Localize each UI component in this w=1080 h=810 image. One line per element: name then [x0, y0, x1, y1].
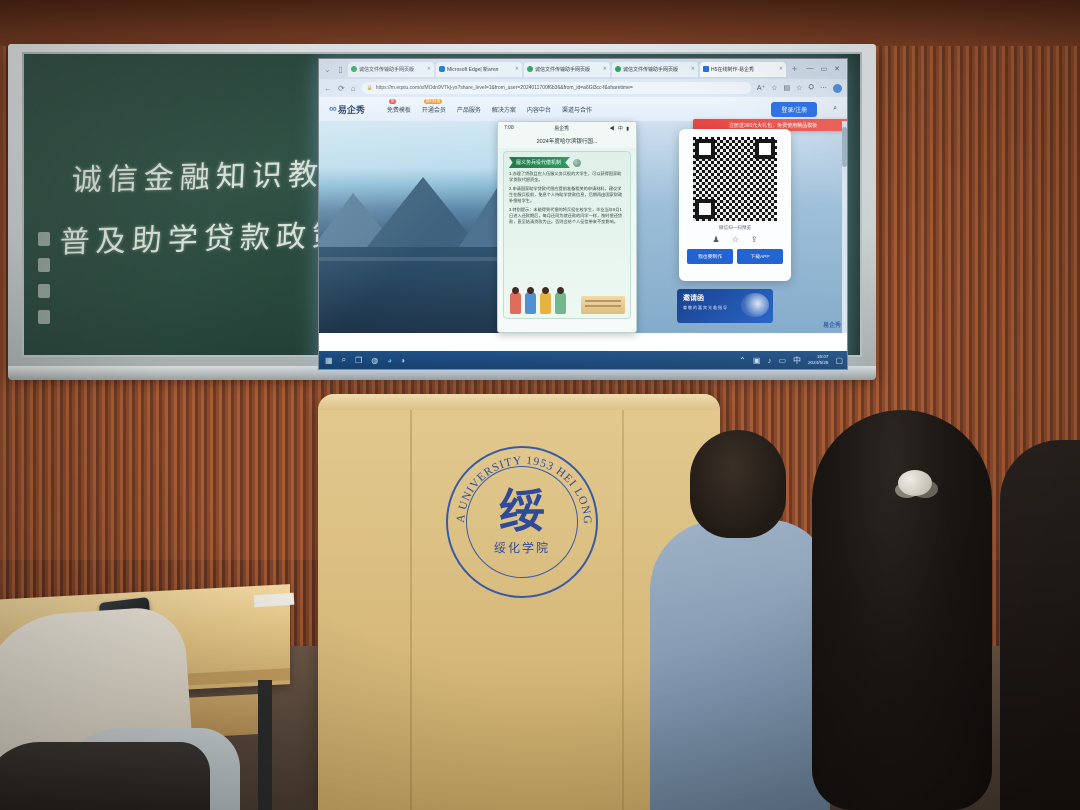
student-right-long-hair — [812, 410, 992, 810]
download-app-button[interactable]: 下载APP — [737, 249, 783, 264]
qr-code-image — [693, 137, 777, 221]
share-icon[interactable]: ⇪ — [751, 235, 758, 244]
login-register-button[interactable]: 登录/注册 — [771, 102, 817, 117]
tab-close-icon[interactable]: ✕ — [515, 66, 519, 72]
task-view-icon[interactable]: ❐ — [355, 356, 362, 365]
browser-tab-active[interactable]: H5在线制作-易企秀 ✕ — [700, 62, 786, 77]
tab-close-icon[interactable]: ✕ — [691, 66, 695, 72]
maximize-button[interactable]: ▭ — [821, 65, 828, 73]
person-figure-icon — [525, 292, 536, 314]
browser-toolbar-icons: A⁺ ☆ ▤ ☆ ⛭ ⋯ — [757, 84, 842, 93]
favorites-icon[interactable]: ☆ — [796, 84, 802, 92]
tab-favicon-blue-square-icon — [703, 66, 709, 72]
podium-seam — [410, 410, 412, 810]
nav-item-label: 内容中台 — [527, 108, 551, 114]
eqxiu-logo[interactable]: ∞ 易企秀 — [329, 103, 365, 116]
refresh-icon[interactable]: ⟳ — [338, 84, 345, 93]
browser-tab[interactable]: 诚信文件传输助手网页版 ✕ — [612, 62, 698, 77]
edge-icon[interactable]: ◕ — [387, 356, 392, 365]
preview-paragraph: 1.办理了贷款且应入伍服义务兵役的大学生，可以获得国家助学贷款代偿资金。 — [509, 171, 625, 183]
board-magnet — [38, 310, 50, 324]
qr-finder-icon — [695, 139, 715, 159]
back-icon[interactable]: ← — [324, 84, 332, 93]
mobile-preview-frame: 7:08 易企秀 ◀ 中 ▮ 2024年度哈尔滨银行国... 履义务兵役代偿机制… — [497, 121, 637, 333]
blackboard-line-2: 普及助学贷款政策 — [59, 210, 349, 261]
person-figure-icon — [555, 292, 566, 314]
person-figure-icon — [540, 292, 551, 314]
qr-buttons: 我也要制作 下载APP — [687, 249, 783, 264]
settings-icon[interactable]: ⋯ — [820, 84, 827, 92]
person-figure-icon — [510, 292, 521, 314]
wall-top-shadow — [0, 0, 1080, 46]
browser-tab[interactable]: 诚信文件传输助手网页版 ✕ — [348, 62, 434, 77]
classroom-scene: 诚信金融知识教育 普及助学贷款政策 教学用板 ⌄ ▯ 诚信文件传输助手网页版 ✕… — [0, 0, 1080, 810]
nav-item-partners[interactable]: 渠道与合作 — [562, 105, 592, 114]
clock-date: 2024/5/25 — [808, 360, 828, 366]
battery-icon[interactable]: ▭ — [778, 356, 786, 365]
app-icon[interactable]: ◗ — [401, 356, 406, 365]
collections-icon[interactable]: ▤ — [783, 84, 790, 92]
nav-item-label: 产品服务 — [457, 108, 481, 114]
browser-tab-strip: ⌄ ▯ 诚信文件传输助手网页版 ✕ Microsoft Edge| 新ател … — [319, 59, 847, 79]
logo-name: 易企秀 — [338, 103, 365, 116]
tab-favicon-green-circle-icon — [351, 66, 357, 72]
browser-tab[interactable]: 诚信文件传输助手网页版 ✕ — [524, 62, 610, 77]
site-header: ∞ 易企秀 新 免费模板 限时特惠 开通会员 产品服务 解决方案 — [319, 97, 847, 121]
preview-doc-title: 2024年度哈尔滨银行国... — [498, 134, 636, 148]
nav-badge: 新 — [389, 99, 397, 104]
emblem-glyph: 绥 — [499, 489, 545, 533]
taskbar-clock[interactable]: 15:07 2024/5/25 — [808, 354, 828, 366]
nav-item-content-platform[interactable]: 内容中台 — [527, 105, 551, 114]
desk-leg — [258, 680, 272, 810]
status-app-name: 易企秀 — [514, 125, 610, 132]
nav-item-label: 解决方案 — [492, 108, 516, 114]
qr-caption: 微信扫一扫预览 — [687, 225, 783, 231]
lock-icon: 🔒 — [367, 85, 373, 91]
preview-ribbon: 履义务兵役代偿机制 — [509, 157, 625, 168]
qr-finder-icon — [695, 199, 715, 219]
browser-tab[interactable]: Microsoft Edge| 新ател ✕ — [436, 62, 522, 77]
student-foreground-left — [0, 742, 210, 810]
eqxiu-watermark: 易企秀 — [823, 320, 841, 329]
logo-mark-icon: ∞ — [329, 103, 335, 115]
close-button[interactable]: ✕ — [834, 65, 840, 73]
show-hidden-icon[interactable]: ⌃ — [739, 356, 746, 365]
invitation-artwork — [741, 293, 769, 317]
emblem-chinese-name: 绥化学院 — [494, 539, 550, 556]
tab-actions-icon[interactable]: ⌄ — [322, 64, 333, 75]
tab-label: H5在线制作-易企秀 — [711, 66, 777, 73]
scrollbar-thumb[interactable] — [842, 127, 847, 167]
tab-close-icon[interactable]: ✕ — [603, 66, 607, 72]
preview-illustration-books — [581, 296, 625, 314]
projector-screen: ⌄ ▯ 诚信文件传输助手网页版 ✕ Microsoft Edge| 新ател … — [318, 58, 848, 370]
page-scrollbar[interactable] — [842, 121, 847, 333]
emblem-inner-ring: 绥 绥化学院 — [466, 466, 578, 578]
ribbon-label: 履义务兵役代偿机制 — [509, 157, 570, 168]
tab-close-icon[interactable]: ✕ — [427, 66, 431, 72]
board-magnet — [38, 232, 50, 246]
qr-finder-icon — [755, 139, 775, 159]
tab-label: 诚信文件传输助手网页版 — [623, 66, 689, 73]
create-button[interactable]: 我也要制作 — [687, 249, 733, 264]
favorite-icon[interactable]: ☆ — [771, 84, 777, 92]
status-indicators: ◀ 中 ▮ — [609, 125, 630, 132]
tab-favicon-edge-icon — [439, 66, 445, 72]
extensions-icon[interactable]: ⛭ — [808, 84, 814, 92]
nav-item-label: 开通会员 — [422, 108, 446, 114]
preview-content-card: 履义务兵役代偿机制 1.办理了贷款且应入伍服义务兵役的大学生，可以获得国家助学贷… — [503, 151, 631, 319]
nav-item-label: 渠道与合作 — [562, 108, 592, 114]
university-emblem: SUI HUA UNIVERSITY 1953 HEI LONG JIANG 绥… — [446, 446, 598, 598]
nav-item-membership[interactable]: 限时特惠 开通会员 — [422, 105, 446, 114]
browser-address-bar: ← ⟳ ⌂ 🔒 https://m.eqxiu.com/s/MOdn9VTkj-… — [319, 79, 847, 97]
window-controls: — ▭ ✕ — [807, 65, 845, 73]
new-tab-button[interactable]: + — [788, 64, 801, 74]
volume-icon[interactable]: ♪ — [767, 356, 771, 365]
vertical-tabs-icon[interactable]: ▯ — [335, 64, 346, 75]
qr-action-icons: ♟ ☆ ⇪ — [687, 235, 783, 244]
tab-close-icon[interactable]: ✕ — [779, 66, 783, 72]
student-far-right-hair — [1000, 440, 1080, 810]
teams-icon[interactable]: ◍ — [371, 356, 378, 365]
read-aloud-icon[interactable]: A⁺ — [757, 84, 765, 92]
podium-top-surface — [318, 394, 720, 410]
search-icon[interactable]: ⌕ — [342, 355, 346, 365]
notification-icon[interactable]: ▢ — [835, 356, 843, 365]
start-icon[interactable]: ▦ — [325, 356, 333, 365]
tab-favicon-green-circle-icon — [527, 66, 533, 72]
invitation-card[interactable]: 邀请函 尊敬的嘉宾光临指导 — [677, 289, 773, 323]
site-nav-items: 新 免费模板 限时特惠 开通会员 产品服务 解决方案 内容中台 渠道与合作 — [387, 105, 592, 114]
student-middle-head — [690, 430, 786, 538]
tab-favicon-green-circle-icon — [615, 66, 621, 72]
url-input[interactable]: 🔒 https://m.eqxiu.com/s/MOdn9VTkj-ys?sha… — [362, 82, 751, 94]
url-text: https://m.eqxiu.com/s/MOdn9VTkj-ys?share… — [376, 85, 633, 91]
site-body: 7:08 易企秀 ◀ 中 ▮ 2024年度哈尔滨银行国... 履义务兵役代偿机制… — [319, 121, 847, 333]
status-time: 7:08 — [504, 125, 514, 131]
phone-status-bar: 7:08 易企秀 ◀ 中 ▮ — [498, 122, 636, 134]
ribbon-ornament-icon — [573, 159, 581, 167]
tab-label: 诚信文件传输助手网页版 — [535, 66, 601, 73]
board-magnet — [38, 258, 50, 272]
preview-paragraph: 3.特别提示：未能得到代偿的将兵役在校学生，毕业当年9月1日进入还款期后，每月还… — [509, 207, 625, 225]
board-magnet — [38, 284, 50, 298]
nav-item-products[interactable]: 产品服务 — [457, 105, 481, 114]
hair-clip-accessory — [898, 470, 932, 496]
podium-seam — [622, 410, 624, 810]
nav-item-label: 免费模板 — [387, 108, 411, 114]
search-icon[interactable]: ⌕ — [833, 105, 837, 113]
nav-badge: 限时特惠 — [424, 99, 442, 104]
nav-item-templates[interactable]: 新 免费模板 — [387, 105, 411, 114]
wechat-icon[interactable]: ♟ — [712, 235, 719, 244]
tab-label: Microsoft Edge| 新ател — [447, 66, 513, 73]
star-icon[interactable]: ☆ — [732, 235, 739, 244]
tab-label: 诚信文件传输助手网页版 — [359, 66, 425, 73]
preview-illustration-people — [510, 292, 566, 314]
preview-paragraph: 2.申请国家助学贷款代偿应提前准备相关的申请材料，建议学生在服兵役前，免息个人持… — [509, 186, 625, 204]
windows-taskbar: ▦ ⌕ ❐ ◍ ◕ ◗ ⌃ ▣ ♪ ▭ 中 15:07 2024/5/25 ▢ — [319, 351, 848, 369]
qr-preview-panel: 微信扫一扫预览 ♟ ☆ ⇪ 我也要制作 下载APP — [679, 129, 791, 281]
network-icon[interactable]: ▣ — [753, 356, 761, 365]
home-icon[interactable]: ⌂ — [351, 84, 356, 93]
system-tray: ⌃ ▣ ♪ ▭ 中 15:07 2024/5/25 ▢ — [739, 354, 843, 366]
profile-avatar[interactable] — [833, 84, 842, 93]
ime-icon[interactable]: 中 — [793, 355, 801, 366]
nav-item-solutions[interactable]: 解决方案 — [492, 105, 516, 114]
minimize-button[interactable]: — — [807, 65, 814, 73]
student-middle-body — [650, 520, 830, 810]
